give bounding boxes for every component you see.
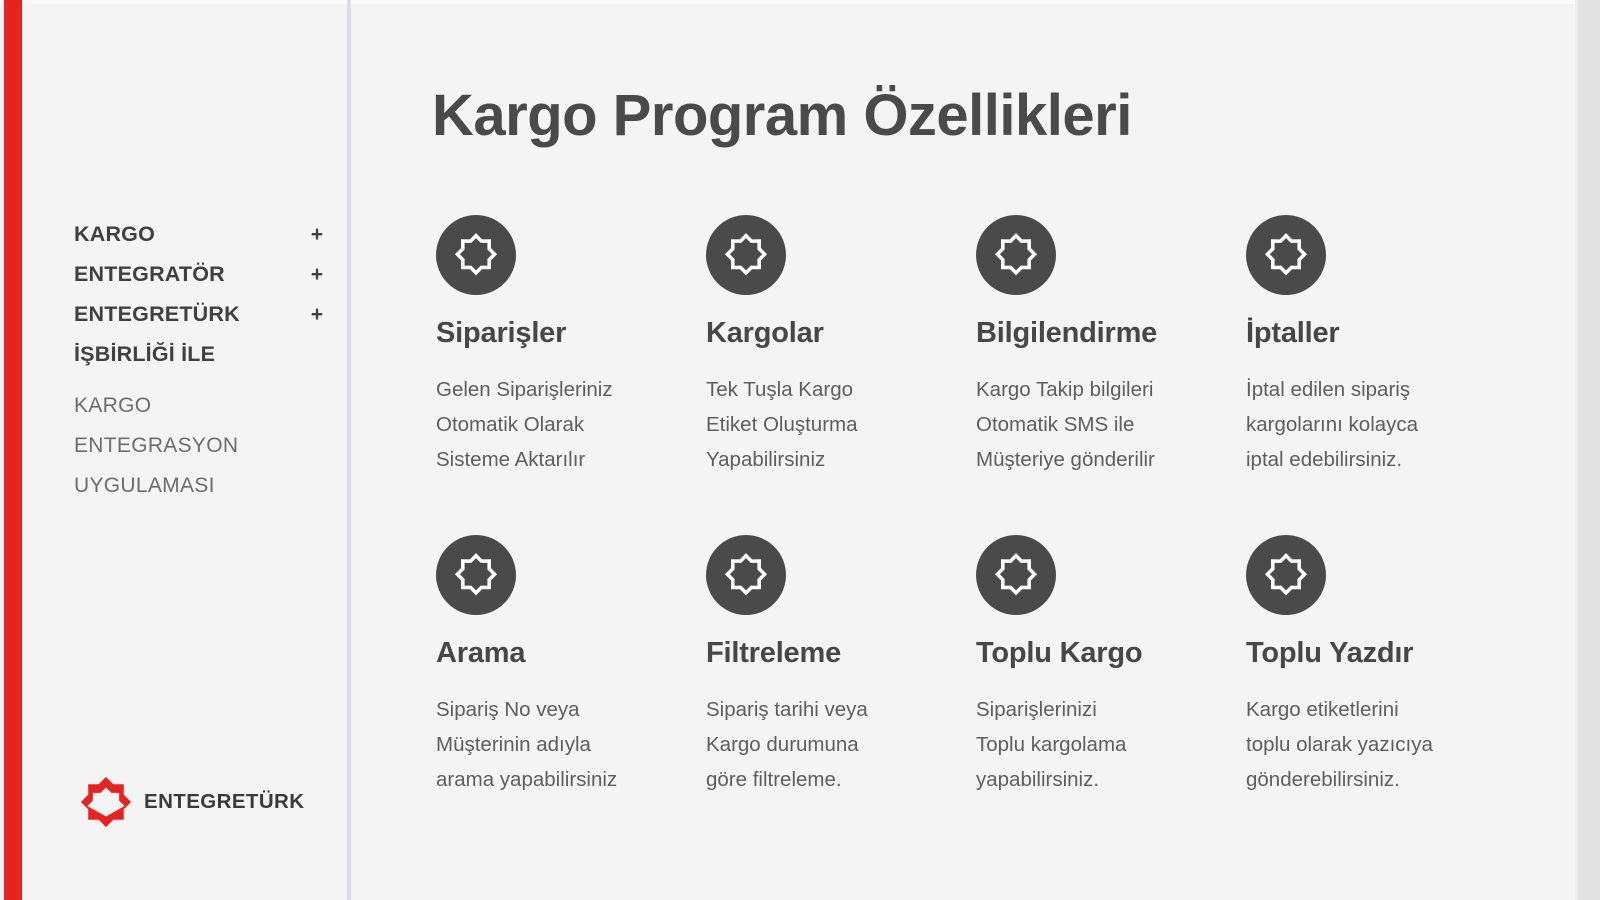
sidebar-subtitle-line: KARGO	[74, 386, 324, 426]
feature-card-title: Toplu Kargo	[976, 637, 1246, 670]
feature-card-iptaller[interactable]: İptaller İptal edilen sipariş kargoların…	[1246, 215, 1516, 535]
feature-card-kargolar[interactable]: Kargolar Tek Tuşla Kargo Etiket Oluşturm…	[706, 215, 976, 535]
sidebar-item-kargo[interactable]: KARGO +	[74, 222, 324, 262]
sidebar: KARGO + ENTEGRATÖR + ENTEGRETÜRK + İŞBİR…	[22, 0, 347, 900]
feature-card-description: Sipariş No veya Müşterinin adıyla arama …	[436, 692, 696, 797]
octagram-star-icon	[80, 776, 132, 828]
octagram-star-icon	[436, 535, 516, 615]
octagram-star-icon	[1246, 535, 1326, 615]
feature-card-title: Arama	[436, 637, 706, 670]
page-right-edge	[1578, 0, 1600, 900]
feature-card-description: Tek Tuşla Kargo Etiket Oluşturma Yapabil…	[706, 372, 966, 477]
feature-card-title: İptaller	[1246, 317, 1516, 350]
feature-card-title: Toplu Yazdır	[1246, 637, 1516, 670]
feature-card-filtreleme[interactable]: Filtreleme Sipariş tarihi veya Kargo dur…	[706, 535, 976, 855]
octagram-star-icon	[436, 215, 516, 295]
left-red-accent-stripe	[4, 0, 22, 900]
brand-logo[interactable]: ENTEGRETÜRK	[80, 776, 304, 828]
sidebar-nav: KARGO + ENTEGRATÖR + ENTEGRETÜRK + İŞBİR…	[74, 222, 324, 506]
brand-logo-text: ENTEGRETÜRK	[144, 790, 304, 814]
feature-card-title: Siparişler	[436, 317, 706, 350]
page-title: Kargo Program Özellikleri	[432, 82, 1132, 149]
octagram-star-icon	[1246, 215, 1326, 295]
plus-icon[interactable]: +	[310, 303, 324, 327]
sidebar-item-entegrator[interactable]: ENTEGRATÖR +	[74, 262, 324, 302]
feature-card-description: Kargo Takip bilgileri Otomatik SMS ile M…	[976, 372, 1236, 477]
sidebar-subtitle-line: UYGULAMASI	[74, 466, 324, 506]
octagram-star-icon	[976, 535, 1056, 615]
feature-card-toplu-kargo[interactable]: Toplu Kargo Siparişlerinizi Toplu kargol…	[976, 535, 1246, 855]
feature-card-bilgilendirme[interactable]: Bilgilendirme Kargo Takip bilgileri Otom…	[976, 215, 1246, 535]
sidebar-item-entegrator-label: ENTEGRATÖR	[74, 262, 225, 287]
feature-card-siparisler[interactable]: Siparişler Gelen Siparişleriniz Otomatik…	[436, 215, 706, 535]
sidebar-item-isbirligi-ile-label: İŞBİRLİĞİ İLE	[74, 342, 215, 367]
feature-card-title: Filtreleme	[706, 637, 976, 670]
feature-card-description: İptal edilen sipariş kargolarını kolayca…	[1246, 372, 1506, 477]
sidebar-item-kargo-label: KARGO	[74, 222, 155, 247]
feature-card-description: Kargo etiketlerini toplu olarak yazıcıya…	[1246, 692, 1506, 797]
plus-icon[interactable]: +	[310, 263, 324, 287]
feature-card-toplu-yazdir[interactable]: Toplu Yazdır Kargo etiketlerini toplu ol…	[1246, 535, 1516, 855]
slide-page: KARGO + ENTEGRATÖR + ENTEGRETÜRK + İŞBİR…	[0, 0, 1600, 900]
octagram-star-icon	[976, 215, 1056, 295]
feature-card-description: Sipariş tarihi veya Kargo durumuna göre …	[706, 692, 966, 797]
feature-card-grid: Siparişler Gelen Siparişleriniz Otomatik…	[436, 215, 1576, 855]
main-content: Kargo Program Özellikleri Siparişler Gel…	[351, 0, 1578, 900]
octagram-star-icon	[706, 535, 786, 615]
feature-card-title: Bilgilendirme	[976, 317, 1246, 350]
sidebar-item-entegreturk-label: ENTEGRETÜRK	[74, 302, 240, 327]
feature-card-description: Siparişlerinizi Toplu kargolama yapabili…	[976, 692, 1236, 797]
feature-card-description: Gelen Siparişleriniz Otomatik Olarak Sis…	[436, 372, 696, 477]
feature-card-title: Kargolar	[706, 317, 976, 350]
sidebar-item-entegreturk[interactable]: ENTEGRETÜRK +	[74, 302, 324, 342]
sidebar-subtitle: KARGO ENTEGRASYON UYGULAMASI	[74, 386, 324, 506]
octagram-star-icon	[706, 215, 786, 295]
plus-icon[interactable]: +	[310, 223, 324, 247]
sidebar-subtitle-line: ENTEGRASYON	[74, 426, 324, 466]
feature-card-arama[interactable]: Arama Sipariş No veya Müşterinin adıyla …	[436, 535, 706, 855]
sidebar-item-isbirligi-ile: İŞBİRLİĞİ İLE	[74, 342, 324, 382]
